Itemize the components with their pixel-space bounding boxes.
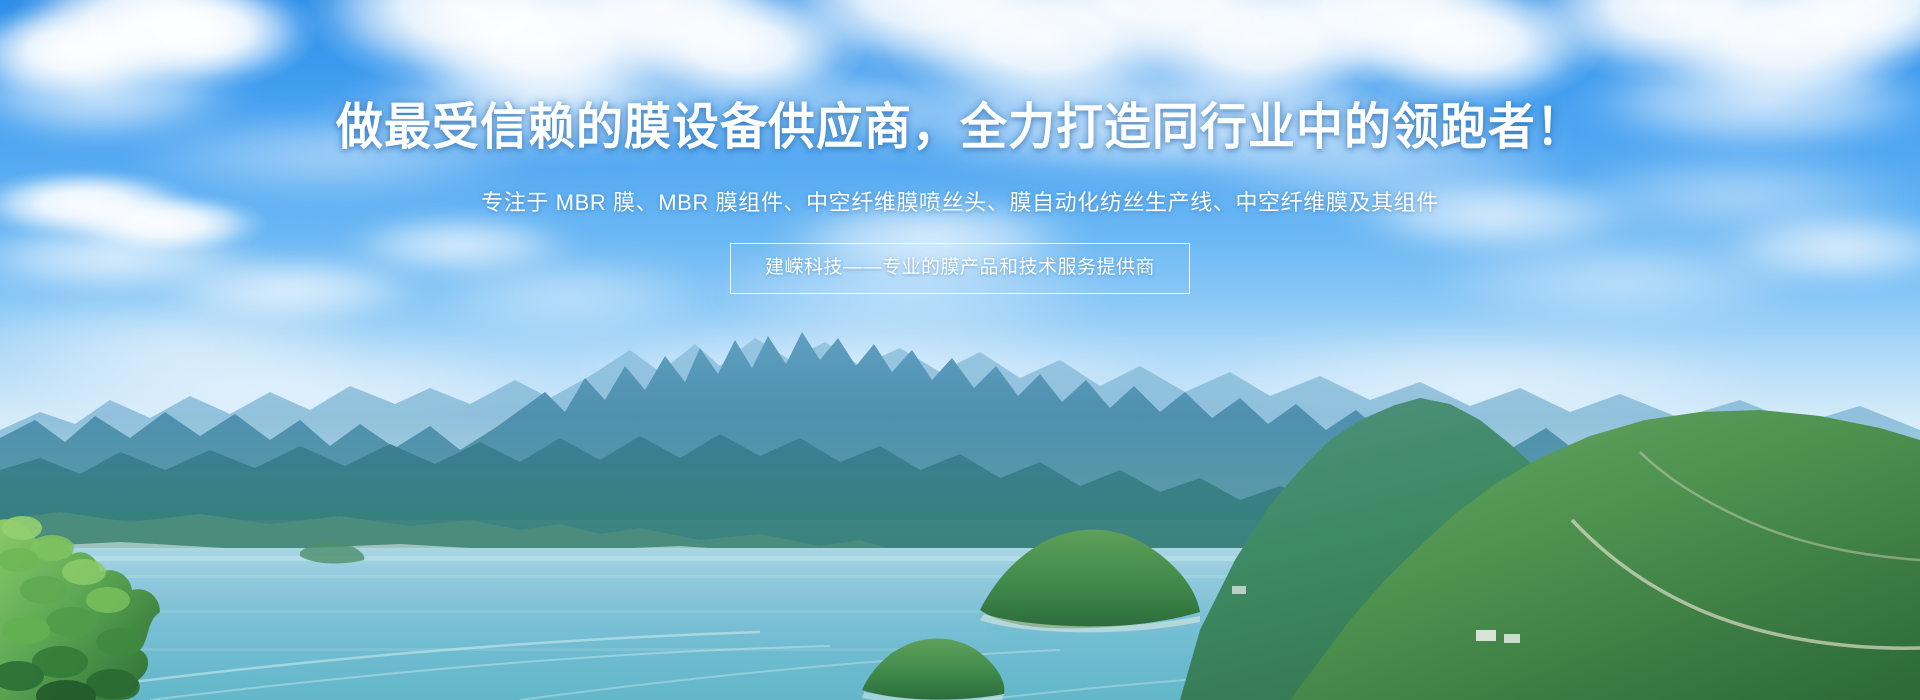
banner-subtitle: 专注于 MBR 膜、MBR 膜组件、中空纤维膜喷丝头、膜自动化纺丝生产线、中空纤… — [0, 186, 1920, 220]
banner-headline: 做最受信赖的膜设备供应商，全力打造同行业中的领跑者！ — [0, 96, 1920, 157]
banner-tagline: 建嵘科技——专业的膜产品和技术服务提供商 — [730, 243, 1190, 294]
banner-text-overlay: 做最受信赖的膜设备供应商，全力打造同行业中的领跑者！ 专注于 MBR 膜、MBR… — [0, 0, 1920, 700]
banner-tagline-wrapper: 建嵘科技——专业的膜产品和技术服务提供商 — [0, 243, 1920, 294]
hero-banner: 做最受信赖的膜设备供应商，全力打造同行业中的领跑者！ 专注于 MBR 膜、MBR… — [0, 0, 1920, 700]
